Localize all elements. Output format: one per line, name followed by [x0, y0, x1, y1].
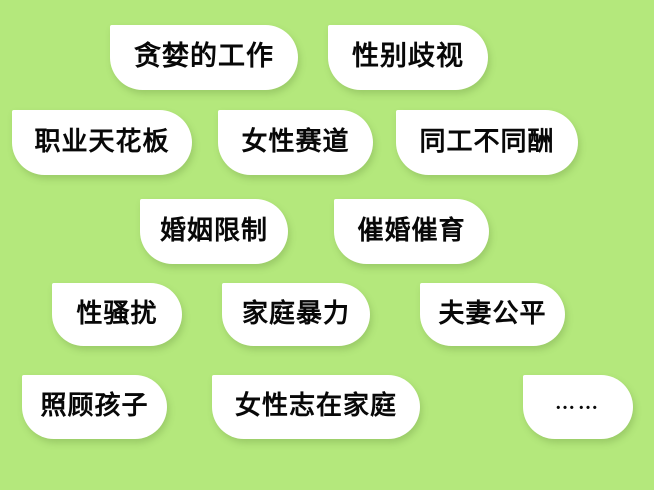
- speech-bubble-sexual-harassment[interactable]: 性骚扰: [52, 283, 182, 346]
- speech-bubble-caring-for-children[interactable]: 照顾孩子: [22, 375, 167, 439]
- speech-bubble-label: 催婚催育: [357, 218, 465, 246]
- speech-bubble-greedy-job[interactable]: 贪婪的工作: [110, 25, 298, 90]
- speech-bubble-label: 女性赛道: [241, 129, 349, 157]
- speech-bubble-marriage-restriction[interactable]: 婚姻限制: [140, 199, 288, 264]
- speech-bubble-marriage-childbirth-pressure[interactable]: 催婚催育: [334, 199, 489, 264]
- speech-bubble-women-aspire-family[interactable]: 女性志在家庭: [212, 375, 420, 439]
- speech-bubble-career-ceiling[interactable]: 职业天花板: [12, 110, 192, 175]
- speech-bubble-unequal-pay[interactable]: 同工不同酬: [396, 110, 578, 175]
- speech-bubble-label: 婚姻限制: [160, 218, 268, 246]
- word-cloud-canvas: 贪婪的工作性别歧视职业天花板女性赛道同工不同酬婚姻限制催婚催育性骚扰家庭暴力夫妻…: [0, 0, 654, 490]
- speech-bubble-label: ……: [555, 393, 601, 421]
- speech-bubble-label: 家庭暴力: [242, 301, 350, 329]
- speech-bubble-label: 照顾孩子: [40, 393, 148, 421]
- speech-bubble-couple-fairness[interactable]: 夫妻公平: [420, 283, 565, 346]
- speech-bubble-women-track[interactable]: 女性赛道: [218, 110, 373, 175]
- speech-bubble-label: 性骚扰: [76, 301, 157, 329]
- speech-bubble-label: 性别歧视: [352, 43, 464, 72]
- speech-bubble-label: 职业天花板: [34, 129, 169, 157]
- speech-bubble-label: 同工不同酬: [419, 129, 554, 157]
- speech-bubble-ellipsis[interactable]: ……: [523, 375, 633, 439]
- speech-bubble-label: 女性志在家庭: [235, 393, 397, 421]
- speech-bubble-label: 贪婪的工作: [134, 43, 274, 72]
- speech-bubble-label: 夫妻公平: [438, 301, 546, 329]
- speech-bubble-domestic-violence[interactable]: 家庭暴力: [222, 283, 370, 346]
- speech-bubble-gender-discrimination[interactable]: 性别歧视: [328, 25, 488, 90]
